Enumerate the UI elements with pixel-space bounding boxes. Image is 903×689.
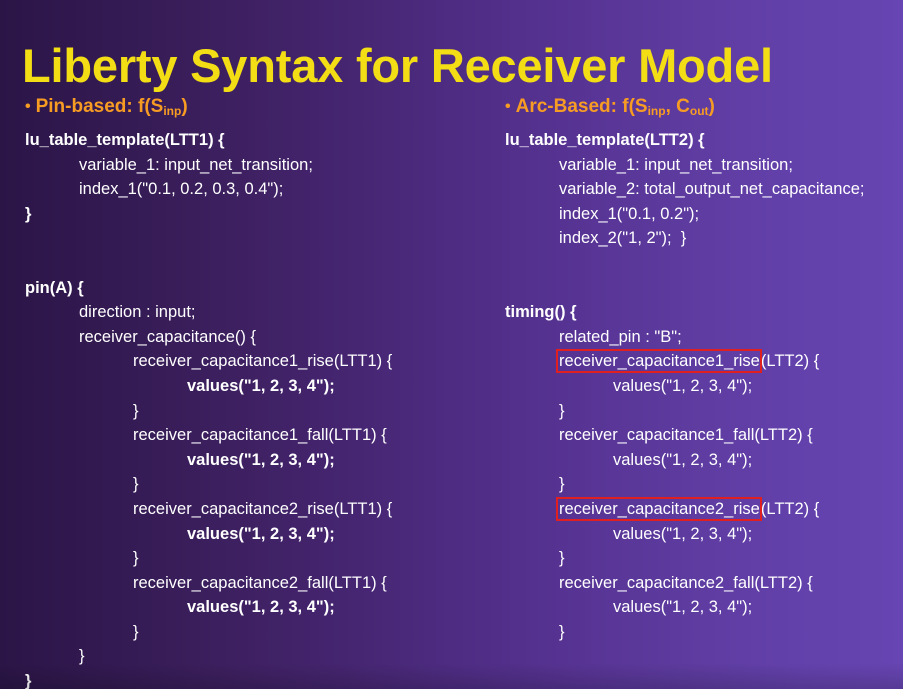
- code-line: values("1, 2, 3, 4");: [25, 374, 495, 399]
- code-line: receiver_capacitance1_rise(LTT1) {: [25, 349, 495, 374]
- code-line: }: [505, 620, 903, 645]
- right-heading-subscript-2: out: [690, 104, 709, 118]
- code-line: }: [25, 202, 495, 227]
- code-line: receiver_capacitance1_fall(LTT2) {: [505, 423, 903, 448]
- code-line: related_pin : "B";: [505, 325, 903, 350]
- code-line: }: [25, 546, 495, 571]
- pin-based-code-block: lu_table_template(LTT1) {variable_1: inp…: [25, 128, 495, 689]
- bullet-dot-icon: •: [25, 98, 31, 115]
- code-line: }: [25, 644, 495, 669]
- code-line: variable_1: input_net_transition;: [505, 153, 903, 178]
- code-line: lu_table_template(LTT1) {: [25, 128, 495, 153]
- code-line: direction : input;: [25, 300, 495, 325]
- code-text: (LTT2) {: [761, 352, 819, 370]
- code-line: }: [25, 399, 495, 424]
- right-heading-middle: , C: [666, 96, 690, 117]
- code-line: values("1, 2, 3, 4");: [505, 595, 903, 620]
- code-line: values("1, 2, 3, 4");: [25, 522, 495, 547]
- code-line: values("1, 2, 3, 4");: [25, 595, 495, 620]
- code-line: values("1, 2, 3, 4");: [505, 374, 903, 399]
- right-heading-suffix: ): [709, 96, 715, 117]
- left-heading-suffix: ): [181, 96, 187, 117]
- code-line: receiver_capacitance2_fall(LTT2) {: [505, 571, 903, 596]
- code-line: }: [505, 472, 903, 497]
- highlighted-attribute: receiver_capacitance1_rise: [558, 351, 760, 371]
- code-line: pin(A) {: [25, 276, 495, 301]
- code-line: values("1, 2, 3, 4");: [505, 522, 903, 547]
- code-line: variable_2: total_output_net_capacitance…: [505, 177, 903, 202]
- code-line: receiver_capacitance1_rise(LTT2) {: [505, 349, 903, 374]
- code-line: receiver_capacitance2_rise(LTT1) {: [25, 497, 495, 522]
- left-heading-subscript: inp: [163, 104, 181, 118]
- code-line: }: [505, 399, 903, 424]
- code-line: lu_table_template(LTT2) {: [505, 128, 903, 153]
- code-line: }: [25, 669, 495, 689]
- code-line: receiver_capacitance2_rise(LTT2) {: [505, 497, 903, 522]
- code-line: timing() {: [505, 300, 903, 325]
- code-line: values("1, 2, 3, 4");: [505, 448, 903, 473]
- page-title: Liberty Syntax for Receiver Model: [22, 37, 882, 95]
- left-column-heading: •Pin-based: f(Sinp): [25, 96, 188, 118]
- code-line: index_2("1, 2"); }: [505, 226, 903, 251]
- code-line: }: [505, 546, 903, 571]
- code-line: receiver_capacitance1_fall(LTT1) {: [25, 423, 495, 448]
- right-heading-text: Arc-Based: f(S: [516, 96, 648, 117]
- code-line: }: [25, 472, 495, 497]
- right-column-heading: •Arc-Based: f(Sinp, Cout): [505, 96, 715, 118]
- right-heading-subscript-1: inp: [648, 104, 666, 118]
- code-line: values("1, 2, 3, 4");: [25, 448, 495, 473]
- code-line: }: [25, 620, 495, 645]
- code-line: receiver_capacitance() {: [25, 325, 495, 350]
- code-line: receiver_capacitance2_fall(LTT1) {: [25, 571, 495, 596]
- code-line: index_1("0.1, 0.2");: [505, 202, 903, 227]
- code-text: (LTT2) {: [761, 500, 819, 518]
- left-heading-text: Pin-based: f(S: [36, 96, 164, 117]
- code-line: index_1("0.1, 0.2, 0.3, 0.4");: [25, 177, 495, 202]
- highlighted-attribute: receiver_capacitance2_rise: [558, 499, 760, 519]
- bullet-dot-icon: •: [505, 98, 511, 115]
- code-line: variable_1: input_net_transition;: [25, 153, 495, 178]
- arc-based-code-block: lu_table_template(LTT2) {variable_1: inp…: [505, 128, 903, 644]
- slide-canvas: Liberty Syntax for Receiver Model •Pin-b…: [0, 0, 903, 689]
